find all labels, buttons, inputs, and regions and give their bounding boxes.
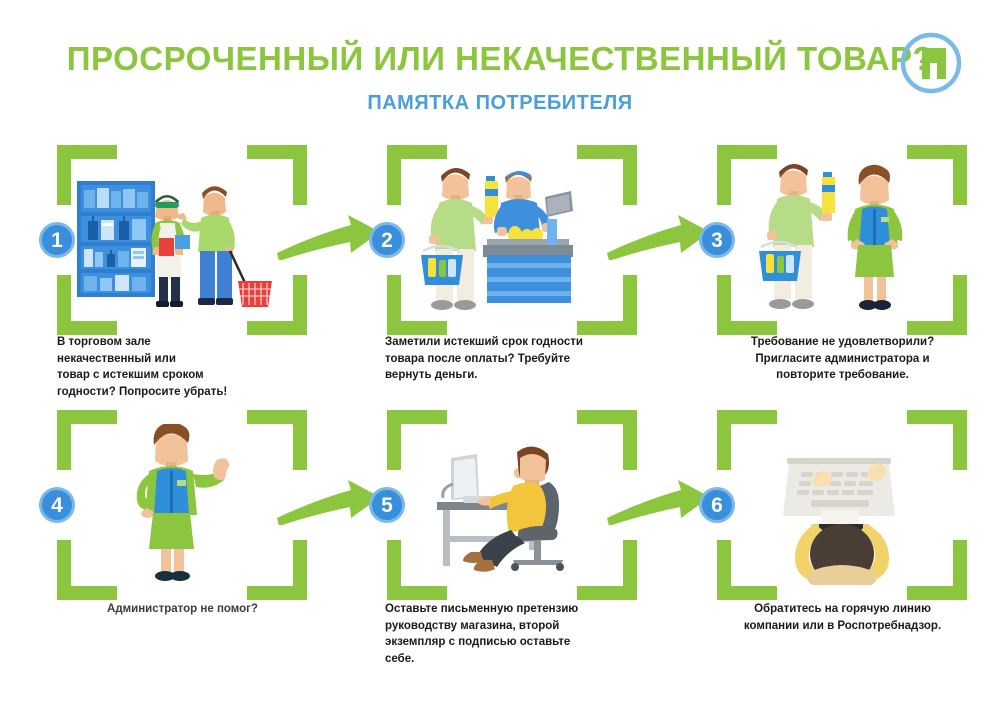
step-badge-2: 2: [369, 222, 405, 258]
consumer-protection-logo-icon: [900, 32, 962, 94]
illustration-person-at-laptop-hotline: [731, 424, 953, 586]
step-panel-1: 1: [57, 145, 307, 335]
step-panel-3: 3: [717, 145, 967, 335]
illustration-customer-and-administrator: [731, 159, 953, 321]
arrow-step5-to-step6: [605, 470, 715, 525]
arrow-step4-to-step5: [275, 470, 385, 525]
step-badge-4: 4: [39, 487, 75, 523]
step-badge-6: 6: [699, 487, 735, 523]
arrow-step1-to-step2: [275, 205, 385, 260]
step-badge-3: 3: [699, 222, 735, 258]
illustration-administrator-refusing: [71, 424, 293, 586]
illustration-shelf-clerk-customer: [71, 159, 293, 321]
step-caption-1: В торговом зале некачественный или товар…: [57, 334, 297, 401]
step-caption-2: Заметили истекший срок годности товара п…: [385, 334, 655, 384]
arrow-step2-to-step3: [605, 205, 715, 260]
infographic-page: ПРОСРОЧЕННЫЙ ИЛИ НЕКАЧЕСТВЕННЫЙ ТОВАР? П…: [0, 0, 1000, 706]
step-badge-1: 1: [39, 222, 75, 258]
step-panel-6: 6: [717, 410, 967, 600]
step-panel-4: 4: [57, 410, 307, 600]
step-panel-5: 5: [387, 410, 637, 600]
step-caption-6: Обратитесь на горячую линию компании или…: [705, 601, 980, 634]
step-caption-5: Оставьте письменную претензию руководств…: [385, 601, 655, 668]
step-badge-5: 5: [369, 487, 405, 523]
illustration-checkout-counter-cashier: [401, 159, 623, 321]
step-caption-3: Требование не удовлетворили? Пригласите …: [705, 334, 980, 384]
illustration-man-writing-at-computer: [401, 424, 623, 586]
page-subtitle: ПАМЯТКА ПОТРЕБИТЕЛЯ: [0, 92, 1000, 115]
page-title: ПРОСРОЧЕННЫЙ ИЛИ НЕКАЧЕСТВЕННЫЙ ТОВАР?: [0, 40, 1000, 78]
step-caption-4: Администратор не помог?: [50, 601, 315, 618]
step-panel-2: 2: [387, 145, 637, 335]
